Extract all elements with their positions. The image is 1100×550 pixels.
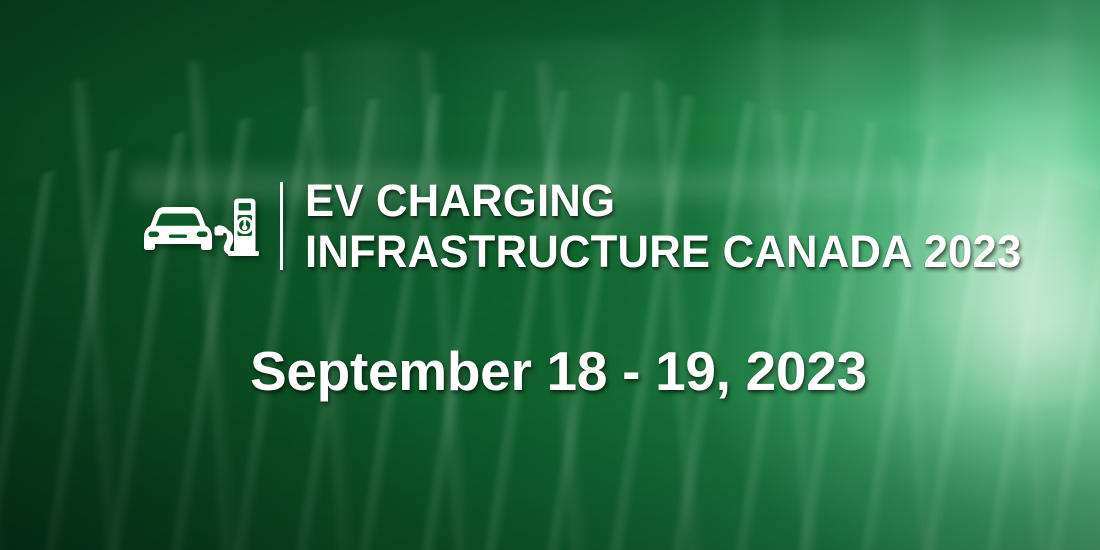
logo-lockup: EV CHARGING INFRASTRUCTURE CANADA 2023 — [136, 178, 1044, 274]
event-banner: EV CHARGING INFRASTRUCTURE CANADA 2023 S… — [0, 0, 1100, 550]
ev-car-charging-icon — [136, 188, 260, 264]
event-title-line-1: EV CHARGING — [305, 178, 1021, 223]
event-title: EV CHARGING INFRASTRUCTURE CANADA 2023 — [305, 178, 1044, 274]
logo-divider — [280, 182, 283, 270]
event-date: September 18 - 19, 2023 — [250, 343, 867, 401]
banner-content: EV CHARGING INFRASTRUCTURE CANADA 2023 S… — [0, 0, 1100, 550]
event-title-line-2: INFRASTRUCTURE CANADA 2023 — [305, 229, 1021, 274]
